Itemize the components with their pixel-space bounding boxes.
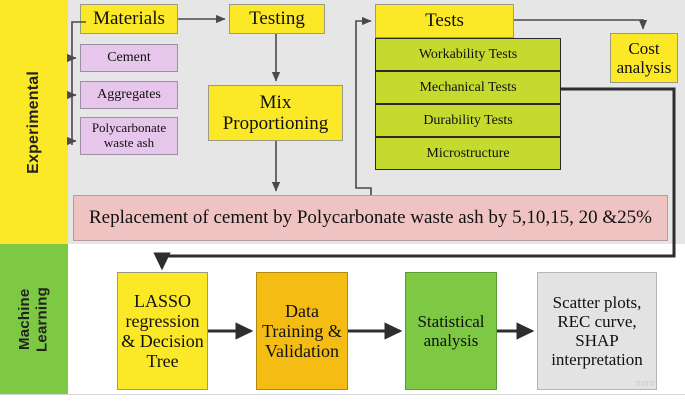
node-polycarbonate-waste-ash[interactable]: Polycarbonate waste ash	[80, 117, 178, 155]
figure-bottom-rule	[0, 394, 685, 402]
node-microstructure[interactable]: Microstructure	[375, 137, 561, 170]
node-cement[interactable]: Cement	[80, 44, 178, 72]
node-cost-analysis[interactable]: Cost analysis	[610, 33, 678, 83]
node-tests-header[interactable]: Tests	[375, 4, 514, 38]
node-mix-proportioning[interactable]: Mix Proportioning	[208, 85, 343, 141]
miro-watermark: miro	[636, 378, 656, 388]
node-workability-tests[interactable]: Workability Tests	[375, 38, 561, 71]
sidebar-machine-learning-label: Machine Learning	[16, 287, 51, 352]
node-lasso-regression-decision-tree[interactable]: LASSO regression & Decision Tree	[117, 272, 208, 390]
node-testing[interactable]: Testing	[229, 4, 325, 34]
node-durability-tests[interactable]: Durability Tests	[375, 104, 561, 137]
node-materials[interactable]: Materials	[80, 4, 178, 34]
sidebar-machine-learning: Machine Learning	[0, 244, 68, 394]
node-data-training-validation[interactable]: Data Training & Validation	[256, 272, 348, 390]
flowchart-figure: Experimental Machine Learning Materials …	[0, 0, 685, 402]
node-replacement-bar[interactable]: Replacement of cement by Polycarbonate w…	[73, 195, 668, 241]
node-scatter-rec-shap[interactable]: Scatter plots, REC curve, SHAP interpret…	[537, 272, 657, 390]
node-statistical-analysis[interactable]: Statistical analysis	[405, 272, 497, 390]
sidebar-experimental-label: Experimental	[25, 71, 44, 174]
node-aggregates[interactable]: Aggregates	[80, 81, 178, 109]
sidebar-experimental: Experimental	[0, 0, 68, 244]
node-mechanical-tests[interactable]: Mechanical Tests	[375, 71, 561, 104]
